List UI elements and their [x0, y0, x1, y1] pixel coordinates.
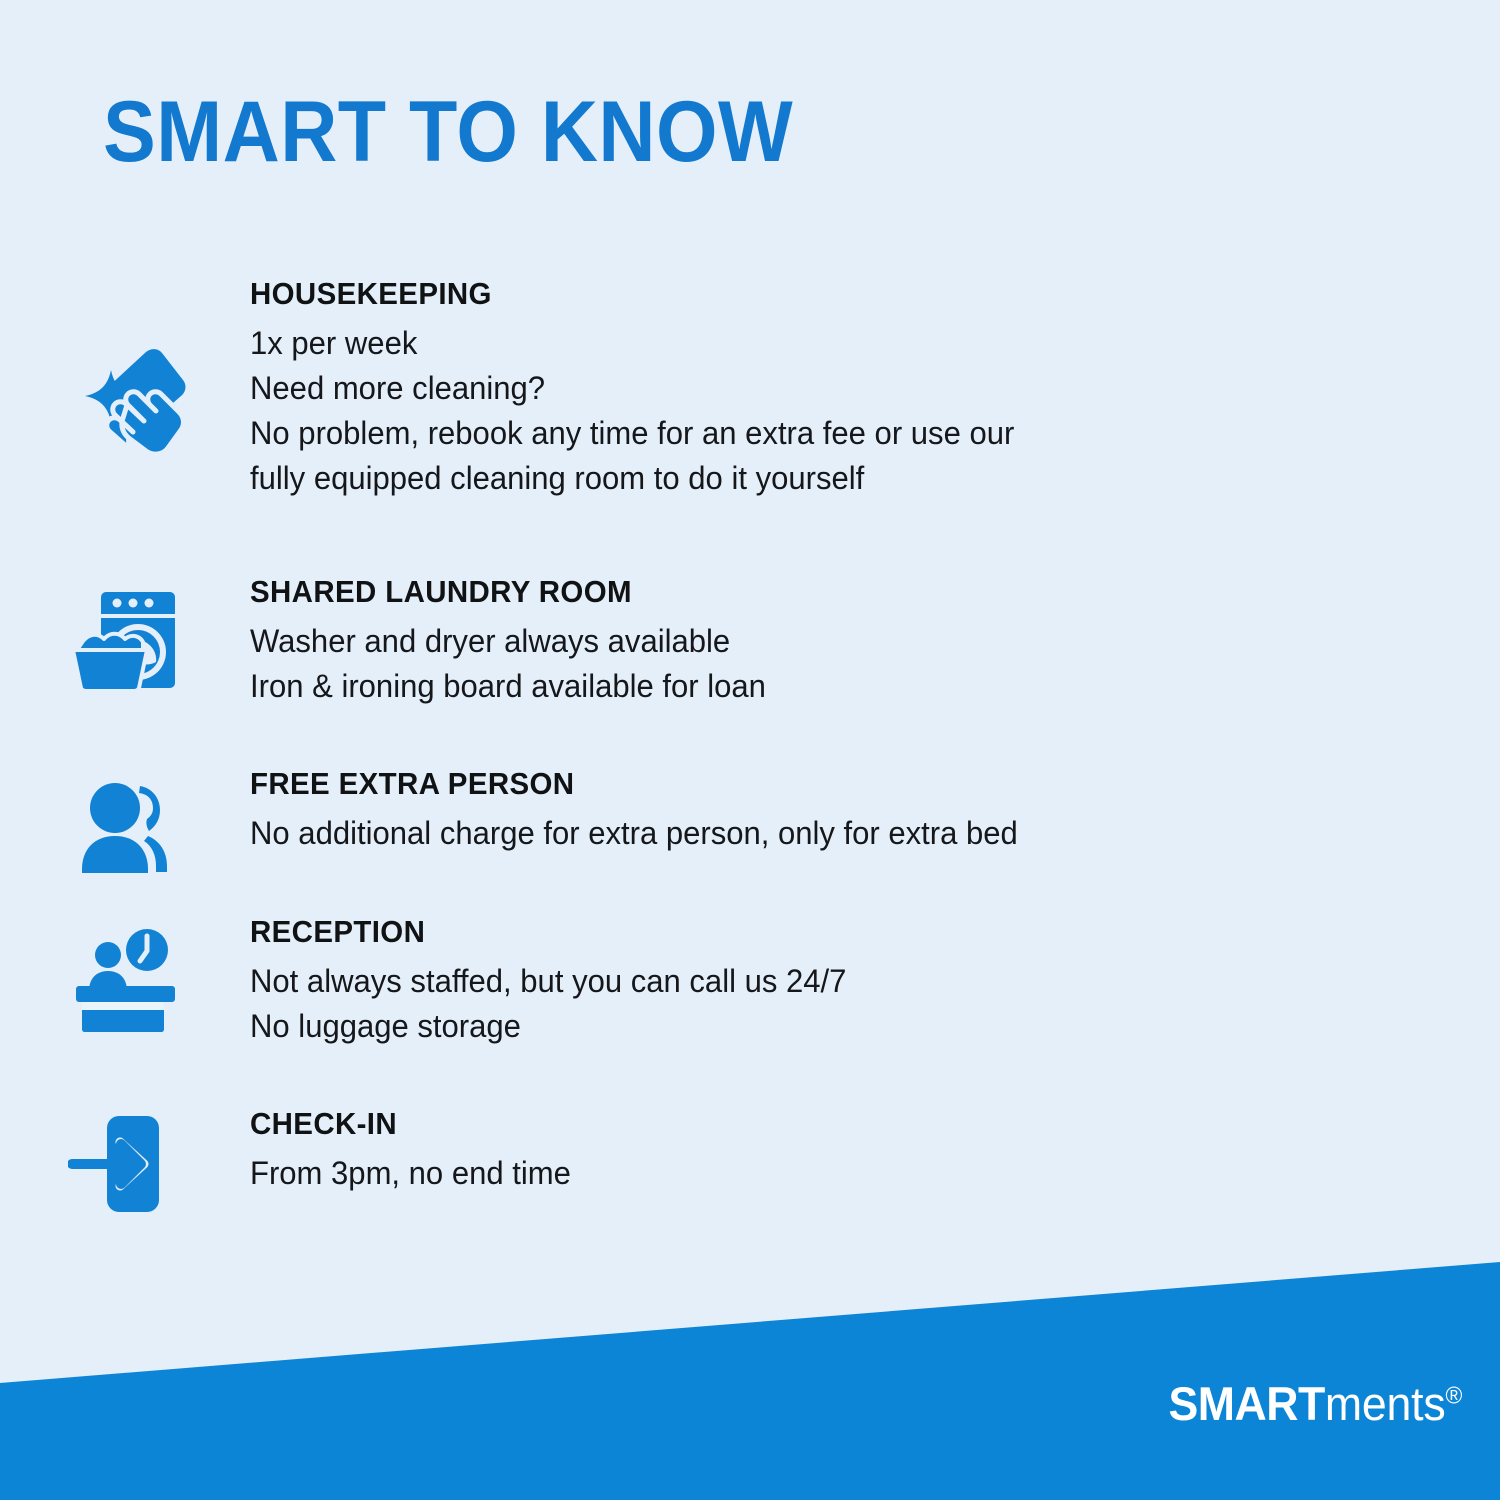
- section-line: fully equipped cleaning room to do it yo…: [250, 456, 1404, 501]
- reception-desk-clock-icon: [68, 924, 183, 1039]
- section-line: Not always staffed, but you can call us …: [250, 959, 1404, 1004]
- icon-cell: [0, 274, 250, 462]
- logo-bold-text: SMART: [1168, 1377, 1324, 1430]
- section-line: No luggage storage: [250, 1004, 1404, 1049]
- text-cell: RECEPTION Not always staffed, but you ca…: [250, 912, 1500, 1049]
- section-line: 1x per week: [250, 321, 1404, 366]
- registered-trademark-icon: ®: [1445, 1382, 1462, 1409]
- section-line: Iron & ironing board available for loan: [250, 664, 1404, 709]
- section-heading: RECEPTION: [250, 912, 1381, 952]
- text-cell: FREE EXTRA PERSON No additional charge f…: [250, 764, 1500, 856]
- section-heading: HOUSEKEEPING: [250, 274, 1381, 314]
- section-line: No problem, rebook any time for an extra…: [250, 411, 1404, 456]
- list-item-check-in: CHECK-IN From 3pm, no end time: [0, 1104, 1500, 1244]
- list-item-free-extra-person: FREE EXTRA PERSON No additional charge f…: [0, 764, 1500, 912]
- text-cell: HOUSEKEEPING 1x per week Need more clean…: [250, 274, 1500, 501]
- section-line: No additional charge for extra person, o…: [250, 811, 1404, 856]
- icon-cell: [0, 572, 250, 696]
- two-people-icon: [70, 774, 180, 879]
- list-item-reception: RECEPTION Not always staffed, but you ca…: [0, 912, 1500, 1104]
- section-line: Washer and dryer always available: [250, 619, 1404, 664]
- section-heading: SHARED LAUNDRY ROOM: [250, 572, 1381, 612]
- list-item-shared-laundry-room: SHARED LAUNDRY ROOM Washer and dryer alw…: [0, 572, 1500, 764]
- section-line: From 3pm, no end time: [250, 1151, 1404, 1196]
- section-heading: FREE EXTRA PERSON: [250, 764, 1381, 804]
- icon-cell: [0, 764, 250, 879]
- icon-cell: [0, 1104, 250, 1217]
- poster-root: SMART TO KNOW HOUSEKEEPING 1x per wee: [0, 0, 1500, 1500]
- logo-light-text: ments: [1325, 1377, 1446, 1430]
- section-line: Need more cleaning?: [250, 366, 1404, 411]
- cleaning-hand-icon: [60, 342, 190, 462]
- icon-cell: [0, 912, 250, 1039]
- door-enter-arrow-icon: [68, 1112, 183, 1217]
- washing-machine-icon: [65, 586, 185, 696]
- section-heading: CHECK-IN: [250, 1104, 1381, 1144]
- page-title: SMART TO KNOW: [103, 84, 793, 180]
- info-list: HOUSEKEEPING 1x per week Need more clean…: [0, 274, 1500, 1244]
- list-item-housekeeping: HOUSEKEEPING 1x per week Need more clean…: [0, 274, 1500, 572]
- smartments-logo: SMARTments®: [1168, 1378, 1462, 1430]
- text-cell: SHARED LAUNDRY ROOM Washer and dryer alw…: [250, 572, 1500, 709]
- text-cell: CHECK-IN From 3pm, no end time: [250, 1104, 1500, 1196]
